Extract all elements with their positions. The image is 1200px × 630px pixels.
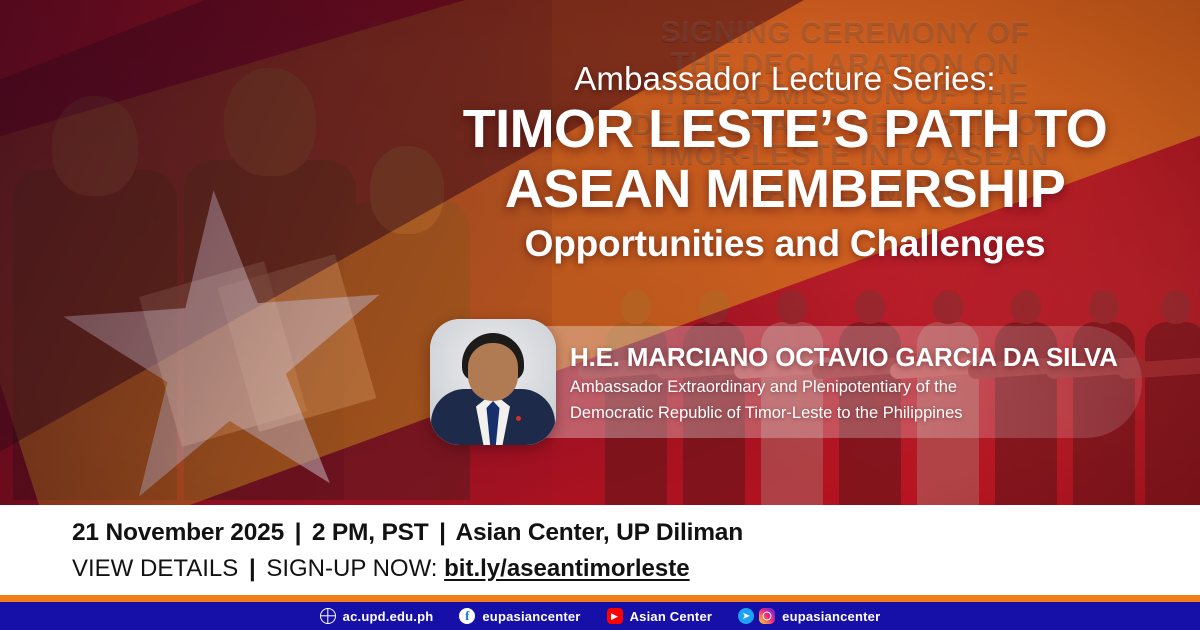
event-details-text: 21 November 2025 | 2 PM, PST | Asian Cen… (0, 519, 743, 583)
event-signup-line: VIEW DETAILS | SIGN-UP NOW: bit.ly/asean… (72, 555, 743, 583)
speaker-role-line-1: Ambassador Extraordinary and Plenipotent… (570, 377, 1150, 399)
youtube-icon: ▶ (607, 608, 623, 624)
view-details-label[interactable]: VIEW DETAILS (72, 555, 238, 582)
footer-facebook-label: eupasiancenter (482, 609, 580, 624)
twitter-icon: ➤ (738, 608, 754, 624)
signup-label: SIGN-UP NOW: (266, 555, 437, 582)
footer-twitter-instagram[interactable]: ➤ eupasiancenter (738, 608, 880, 624)
speaker-text-block: H.E. MARCIANO OCTAVIO GARCIA DA SILVA Am… (570, 342, 1150, 425)
headline-block: Ambassador Lecture Series: TIMOR LESTE’S… (430, 60, 1140, 265)
orange-divider (0, 595, 1200, 602)
signup-link[interactable]: bit.ly/aseantimorleste (444, 555, 689, 582)
event-date: 21 November 2025 (72, 519, 284, 546)
facebook-icon: f (459, 608, 475, 624)
poster-title-line-1: TIMOR LESTE’S PATH TO (430, 102, 1140, 158)
footer-facebook[interactable]: f eupasiancenter (459, 608, 580, 624)
footer-twitter-instagram-label: eupasiancenter (782, 609, 880, 624)
instagram-icon (759, 608, 775, 624)
event-details-bar: 21 November 2025 | 2 PM, PST | Asian Cen… (0, 505, 1200, 597)
footer-website[interactable]: ac.upd.edu.ph (320, 608, 434, 624)
event-venue: Asian Center, UP Diliman (456, 519, 743, 546)
speaker-name: H.E. MARCIANO OCTAVIO GARCIA DA SILVA (570, 342, 1150, 373)
footer-youtube[interactable]: ▶ Asian Center (607, 608, 713, 624)
footer-youtube-label: Asian Center (630, 609, 713, 624)
separator-2: | (435, 519, 450, 546)
separator-1: | (291, 519, 306, 546)
poster-title-line-2: ASEAN MEMBERSHIP (430, 162, 1140, 218)
footer-website-label: ac.upd.edu.ph (343, 609, 434, 624)
speaker-role-line-2: Democratic Republic of Timor-Leste to th… (570, 403, 1150, 425)
separator-3: | (245, 555, 260, 582)
poster-subtitle: Opportunities and Challenges (430, 223, 1140, 265)
event-datetime-venue: 21 November 2025 | 2 PM, PST | Asian Cen… (72, 519, 743, 547)
globe-icon (320, 608, 336, 624)
speaker-avatar (430, 319, 556, 445)
series-kicker: Ambassador Lecture Series: (430, 60, 1140, 98)
speaker-banner: H.E. MARCIANO OCTAVIO GARCIA DA SILVA Am… (430, 326, 1142, 438)
social-footer: ac.upd.edu.ph f eupasiancenter ▶ Asian C… (0, 602, 1200, 630)
event-time: 2 PM, PST (312, 519, 429, 546)
event-poster: SIGNING CEREMONY OF THE DECLARATION ON T… (0, 0, 1200, 630)
